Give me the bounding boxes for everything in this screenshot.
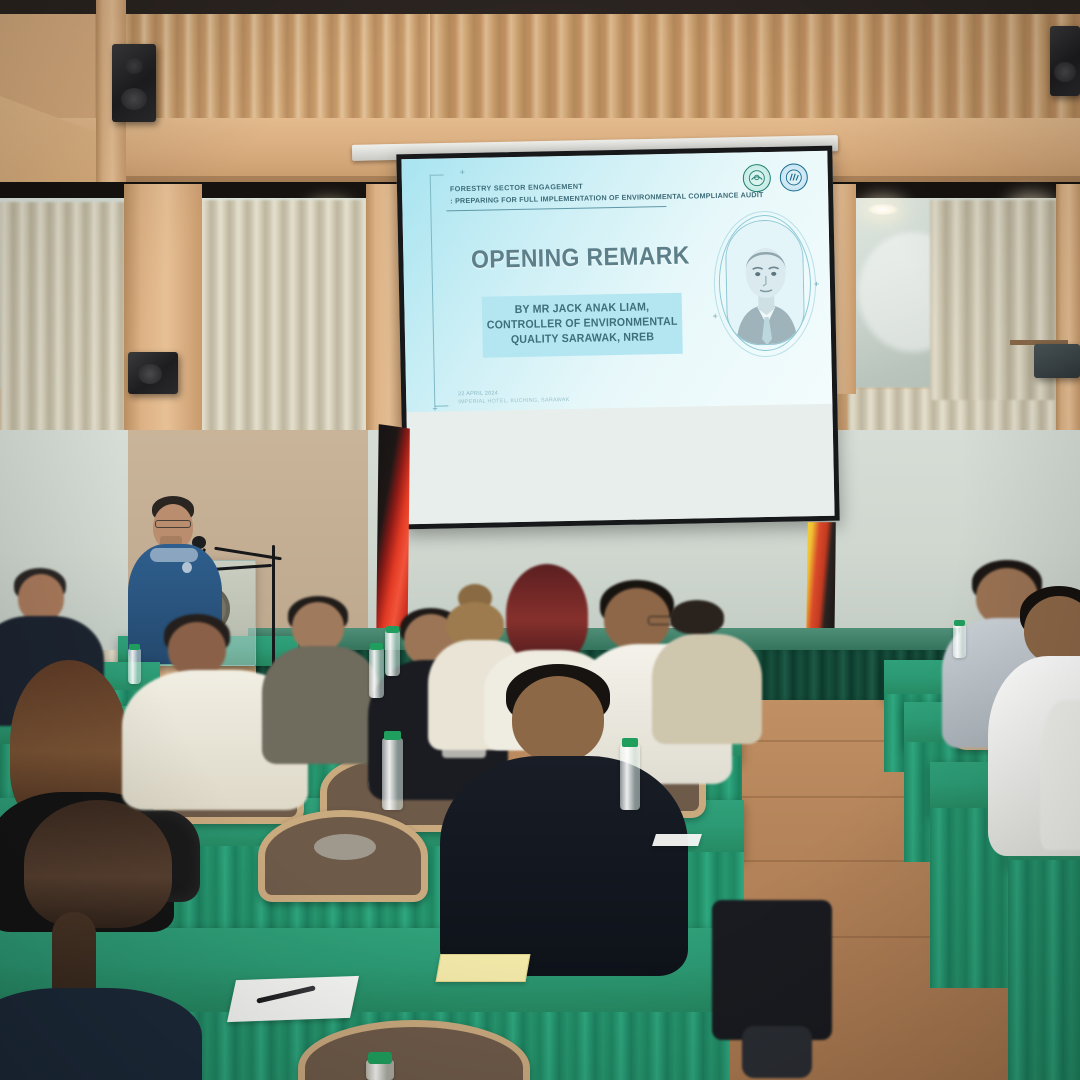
wall-speaker-left xyxy=(112,44,156,122)
slide-header: FORESTRY SECTOR ENGAGEMENT : PREPARING F… xyxy=(450,178,750,205)
mineral-water-bottle[interactable] xyxy=(128,648,141,684)
eyeglasses xyxy=(155,520,191,528)
bottle-cap xyxy=(386,626,399,633)
conference-photo: + + FORESTRY SECTOR ENGAGEMENT : PREPARI… xyxy=(0,0,1080,1080)
speaker-portrait: + + xyxy=(725,219,805,346)
screen-blank-area xyxy=(406,404,834,525)
wood-panel-ribs-right xyxy=(430,0,1080,122)
table-right-row4-drape xyxy=(1008,860,1080,1080)
bottle-cap xyxy=(370,643,383,650)
ceiling-band xyxy=(0,0,1080,14)
slide-subtitle-line3: QUALITY SARAWAK, NREB xyxy=(486,330,679,349)
recessed-downlight xyxy=(866,203,900,216)
slide-footer: 22 APRIL 2024 IMPERIAL HOTEL, KUCHING, S… xyxy=(458,389,570,405)
backpack xyxy=(712,900,832,1040)
bottle-cap xyxy=(384,731,401,740)
slide-header-line2: : PREPARING FOR FULL IMPLEMENTATION OF E… xyxy=(450,190,750,205)
slide-logos xyxy=(743,163,809,192)
shirt-badge xyxy=(182,562,192,573)
slide-footer-line1: 22 APRIL 2024 xyxy=(458,389,570,397)
slide-footer-line2: IMPERIAL HOTEL, KUCHING, SARAWAK xyxy=(458,397,570,405)
slide-header-rule xyxy=(446,206,666,212)
shoe xyxy=(742,1026,812,1078)
sarawak-agency-logo xyxy=(780,163,809,192)
wall-speaker-mid-left xyxy=(128,352,178,394)
bottle-cap xyxy=(622,738,638,747)
mineral-water-bottle[interactable] xyxy=(369,648,384,698)
note-paper[interactable] xyxy=(227,976,359,1022)
slide-subtitle-box: BY MR JACK ANAK LIAM, CONTROLLER OF ENVI… xyxy=(482,293,683,358)
slide-title: OPENING REMARK xyxy=(465,241,696,275)
nreb-logo xyxy=(743,164,772,193)
portrait-image xyxy=(725,219,805,346)
bottle-cap xyxy=(954,620,965,626)
slide-tick-top: + xyxy=(460,169,467,176)
mineral-water-bottle[interactable] xyxy=(382,738,403,810)
mineral-water-bottle[interactable] xyxy=(620,744,640,810)
wall-speaker-right xyxy=(1050,26,1080,96)
bottle-cap xyxy=(129,644,140,650)
bottle-cap xyxy=(368,1052,392,1064)
projection-screen: + + FORESTRY SECTOR ENGAGEMENT : PREPARI… xyxy=(396,146,839,530)
yellow-notepad[interactable] xyxy=(436,954,531,982)
note-paper-secondary[interactable] xyxy=(652,834,702,846)
slide-corner-bracket xyxy=(430,174,449,406)
mineral-water-bottle[interactable] xyxy=(385,630,400,676)
ceiling-projector xyxy=(1034,344,1080,378)
mineral-water-bottle[interactable] xyxy=(953,624,966,658)
presentation-slide: + + FORESTRY SECTOR ENGAGEMENT : PREPARI… xyxy=(401,151,832,422)
